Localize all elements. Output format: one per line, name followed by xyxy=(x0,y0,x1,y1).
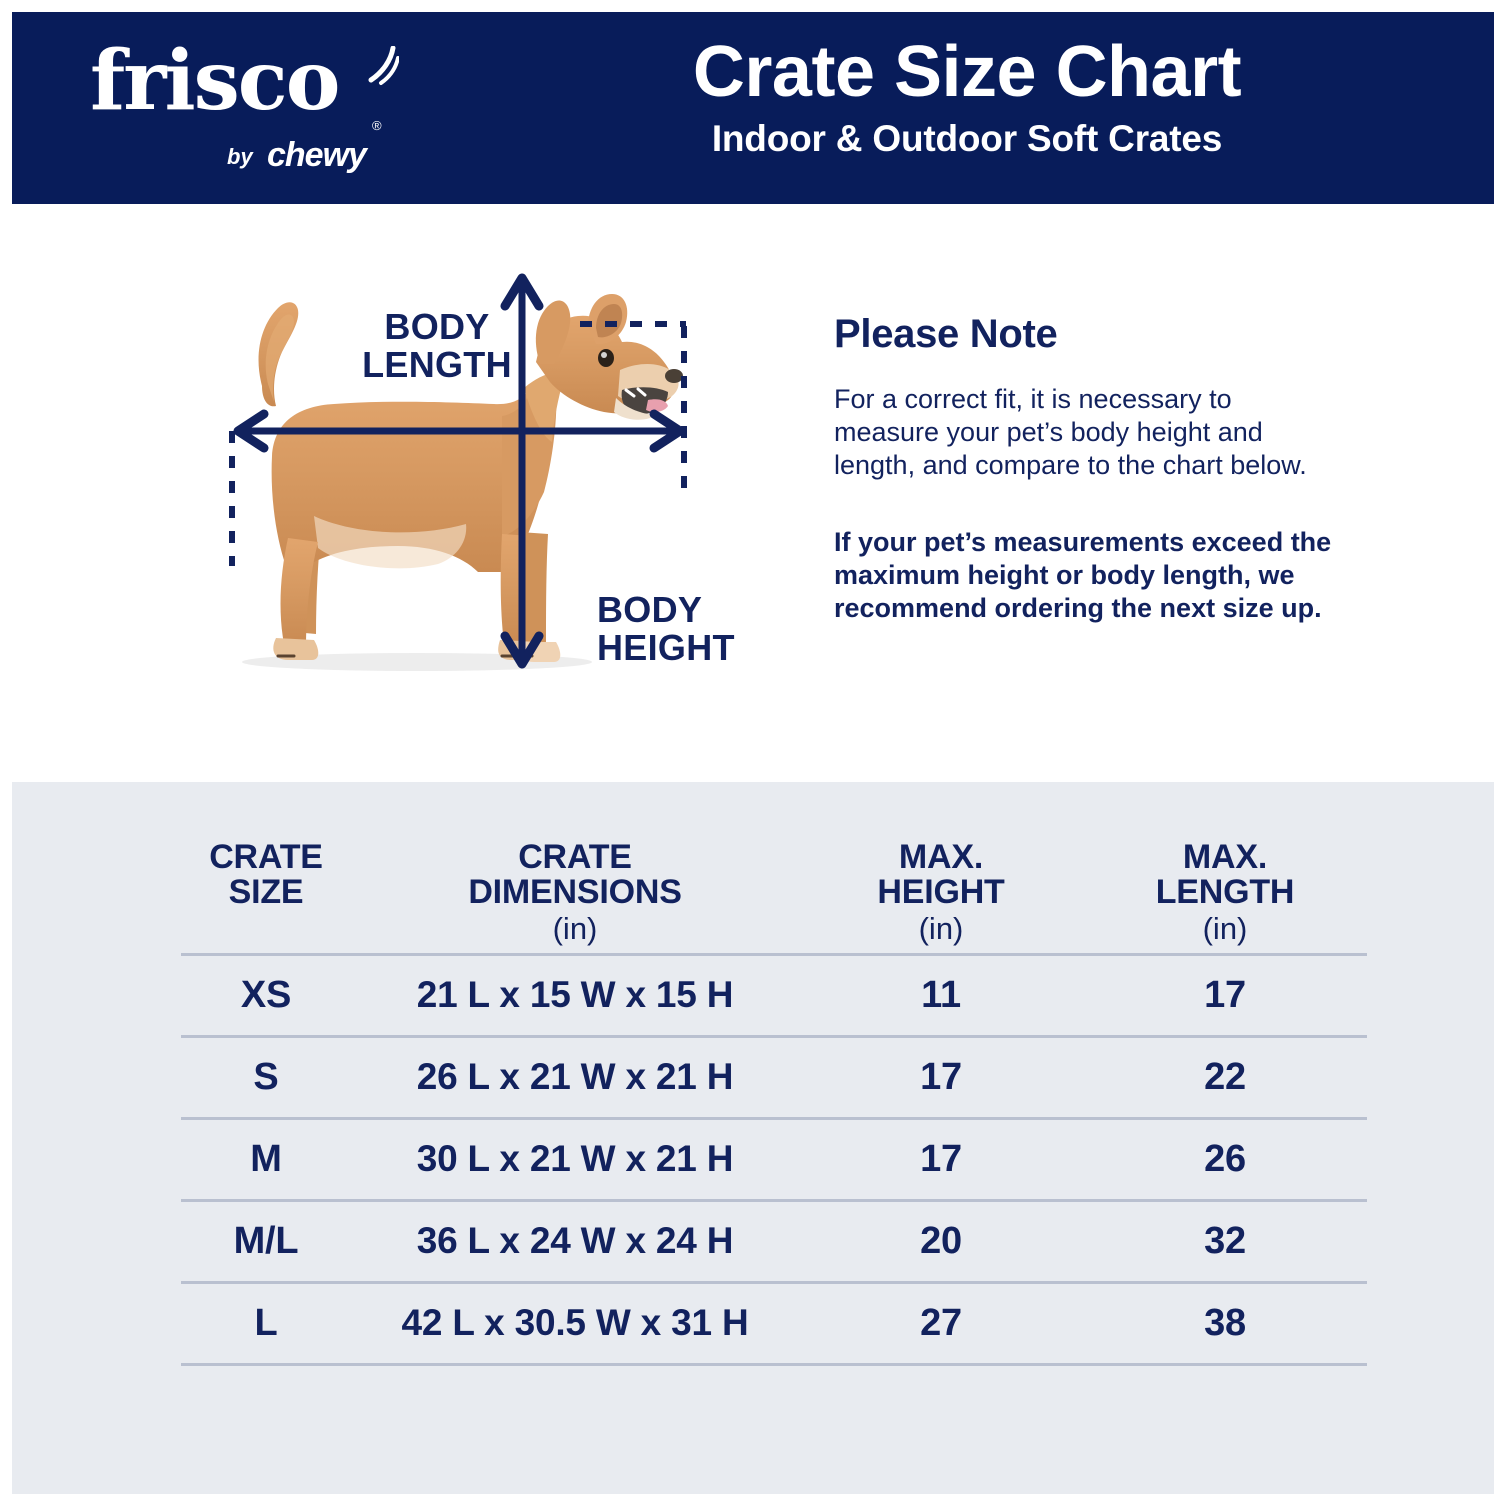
body-height-label-line1: BODY xyxy=(597,591,827,629)
crate-size-chart-page: frisco ® by chewy Crate Size Chart Indoo… xyxy=(0,0,1500,1500)
column-header-max-length-unit: (in) xyxy=(1083,913,1367,945)
info-section: BODY LENGTH BODY HEIGHT Please Note For … xyxy=(12,204,1500,782)
table-row: S 26 L x 21 W x 21 H 17 22 xyxy=(181,1038,1367,1117)
body-length-label-line2: LENGTH xyxy=(322,346,552,384)
please-note-body: For a correct fit, it is necessary to me… xyxy=(834,383,1319,482)
cell-crate-size: XS xyxy=(181,974,351,1017)
measurement-diagram: BODY LENGTH BODY HEIGHT xyxy=(202,266,722,686)
column-header-crate-dimensions-line2: DIMENSIONS xyxy=(468,873,681,911)
frisco-logo: frisco ® by chewy xyxy=(82,40,402,180)
logo-swoosh-icon xyxy=(365,46,399,86)
body-height-label: BODY HEIGHT xyxy=(597,591,827,667)
body-length-label: BODY LENGTH xyxy=(322,308,552,384)
cell-crate-dimensions: 42 L x 30.5 W x 31 H xyxy=(351,1302,799,1344)
cell-crate-dimensions: 26 L x 21 W x 21 H xyxy=(351,1056,799,1098)
column-header-max-height-line2: HEIGHT xyxy=(877,873,1004,911)
cell-max-length: 22 xyxy=(1083,1056,1367,1099)
column-header-max-length: MAX. LENGTH (in) xyxy=(1083,840,1367,945)
column-header-max-height-unit: (in) xyxy=(799,913,1083,945)
table-row: XS 21 L x 15 W x 15 H 11 17 xyxy=(181,956,1367,1035)
cell-max-length: 17 xyxy=(1083,974,1367,1017)
column-header-crate-dimensions: CRATE DIMENSIONS (in) xyxy=(351,840,799,945)
column-header-crate-size-line2: SIZE xyxy=(229,873,304,911)
logo-chewy-wordmark: chewy xyxy=(267,136,366,175)
column-header-max-height: MAX. HEIGHT (in) xyxy=(799,840,1083,945)
please-note-heading: Please Note xyxy=(834,312,1374,357)
cell-max-height: 17 xyxy=(799,1138,1083,1181)
cell-crate-size: M/L xyxy=(181,1220,351,1263)
cell-max-length: 26 xyxy=(1083,1138,1367,1181)
page-subtitle: Indoor & Outdoor Soft Crates xyxy=(442,118,1492,160)
table-row: M 30 L x 21 W x 21 H 17 26 xyxy=(181,1120,1367,1199)
column-header-crate-size: CRATE SIZE xyxy=(181,840,351,911)
cell-crate-dimensions: 30 L x 21 W x 21 H xyxy=(351,1138,799,1180)
logo-registered-mark: ® xyxy=(372,118,382,133)
size-table-section: CRATE SIZE CRATE DIMENSIONS (in) MAX. HE… xyxy=(12,782,1500,1500)
table-row: M/L 36 L x 24 W x 24 H 20 32 xyxy=(181,1202,1367,1281)
body-height-label-line2: HEIGHT xyxy=(597,629,827,667)
body-length-label-line1: BODY xyxy=(322,308,552,346)
header-title-block: Crate Size Chart Indoor & Outdoor Soft C… xyxy=(442,34,1492,160)
column-header-crate-size-line1: CRATE xyxy=(209,838,323,876)
cell-max-length: 32 xyxy=(1083,1220,1367,1263)
column-header-max-height-line1: MAX. xyxy=(899,838,983,876)
cell-max-length: 38 xyxy=(1083,1302,1367,1345)
table-header-row: CRATE SIZE CRATE DIMENSIONS (in) MAX. HE… xyxy=(181,840,1367,953)
cell-max-height: 20 xyxy=(799,1220,1083,1263)
logo-by-label: by xyxy=(227,144,253,170)
cell-crate-dimensions: 21 L x 15 W x 15 H xyxy=(351,974,799,1016)
please-note-block: Please Note For a correct fit, it is nec… xyxy=(834,312,1374,652)
cell-crate-size: M xyxy=(181,1138,351,1181)
size-table: CRATE SIZE CRATE DIMENSIONS (in) MAX. HE… xyxy=(181,840,1367,1366)
column-header-max-length-line2: LENGTH xyxy=(1156,873,1295,911)
please-note-emphasis: If your pet’s measurements exceed the ma… xyxy=(834,526,1344,625)
column-header-crate-dimensions-line1: CRATE xyxy=(518,838,632,876)
table-row: L 42 L x 30.5 W x 31 H 27 38 xyxy=(181,1284,1367,1363)
cell-crate-size: S xyxy=(181,1056,351,1099)
table-rule xyxy=(181,1363,1367,1366)
cell-max-height: 11 xyxy=(799,974,1083,1017)
column-header-max-length-line1: MAX. xyxy=(1183,838,1267,876)
column-header-crate-dimensions-unit: (in) xyxy=(351,913,799,945)
cell-crate-dimensions: 36 L x 24 W x 24 H xyxy=(351,1220,799,1262)
cell-crate-size: L xyxy=(181,1302,351,1345)
logo-wordmark: frisco xyxy=(90,40,338,122)
page-header: frisco ® by chewy Crate Size Chart Indoo… xyxy=(12,12,1500,204)
cell-max-height: 27 xyxy=(799,1302,1083,1345)
page-title: Crate Size Chart xyxy=(442,34,1492,112)
cell-max-height: 17 xyxy=(799,1056,1083,1099)
